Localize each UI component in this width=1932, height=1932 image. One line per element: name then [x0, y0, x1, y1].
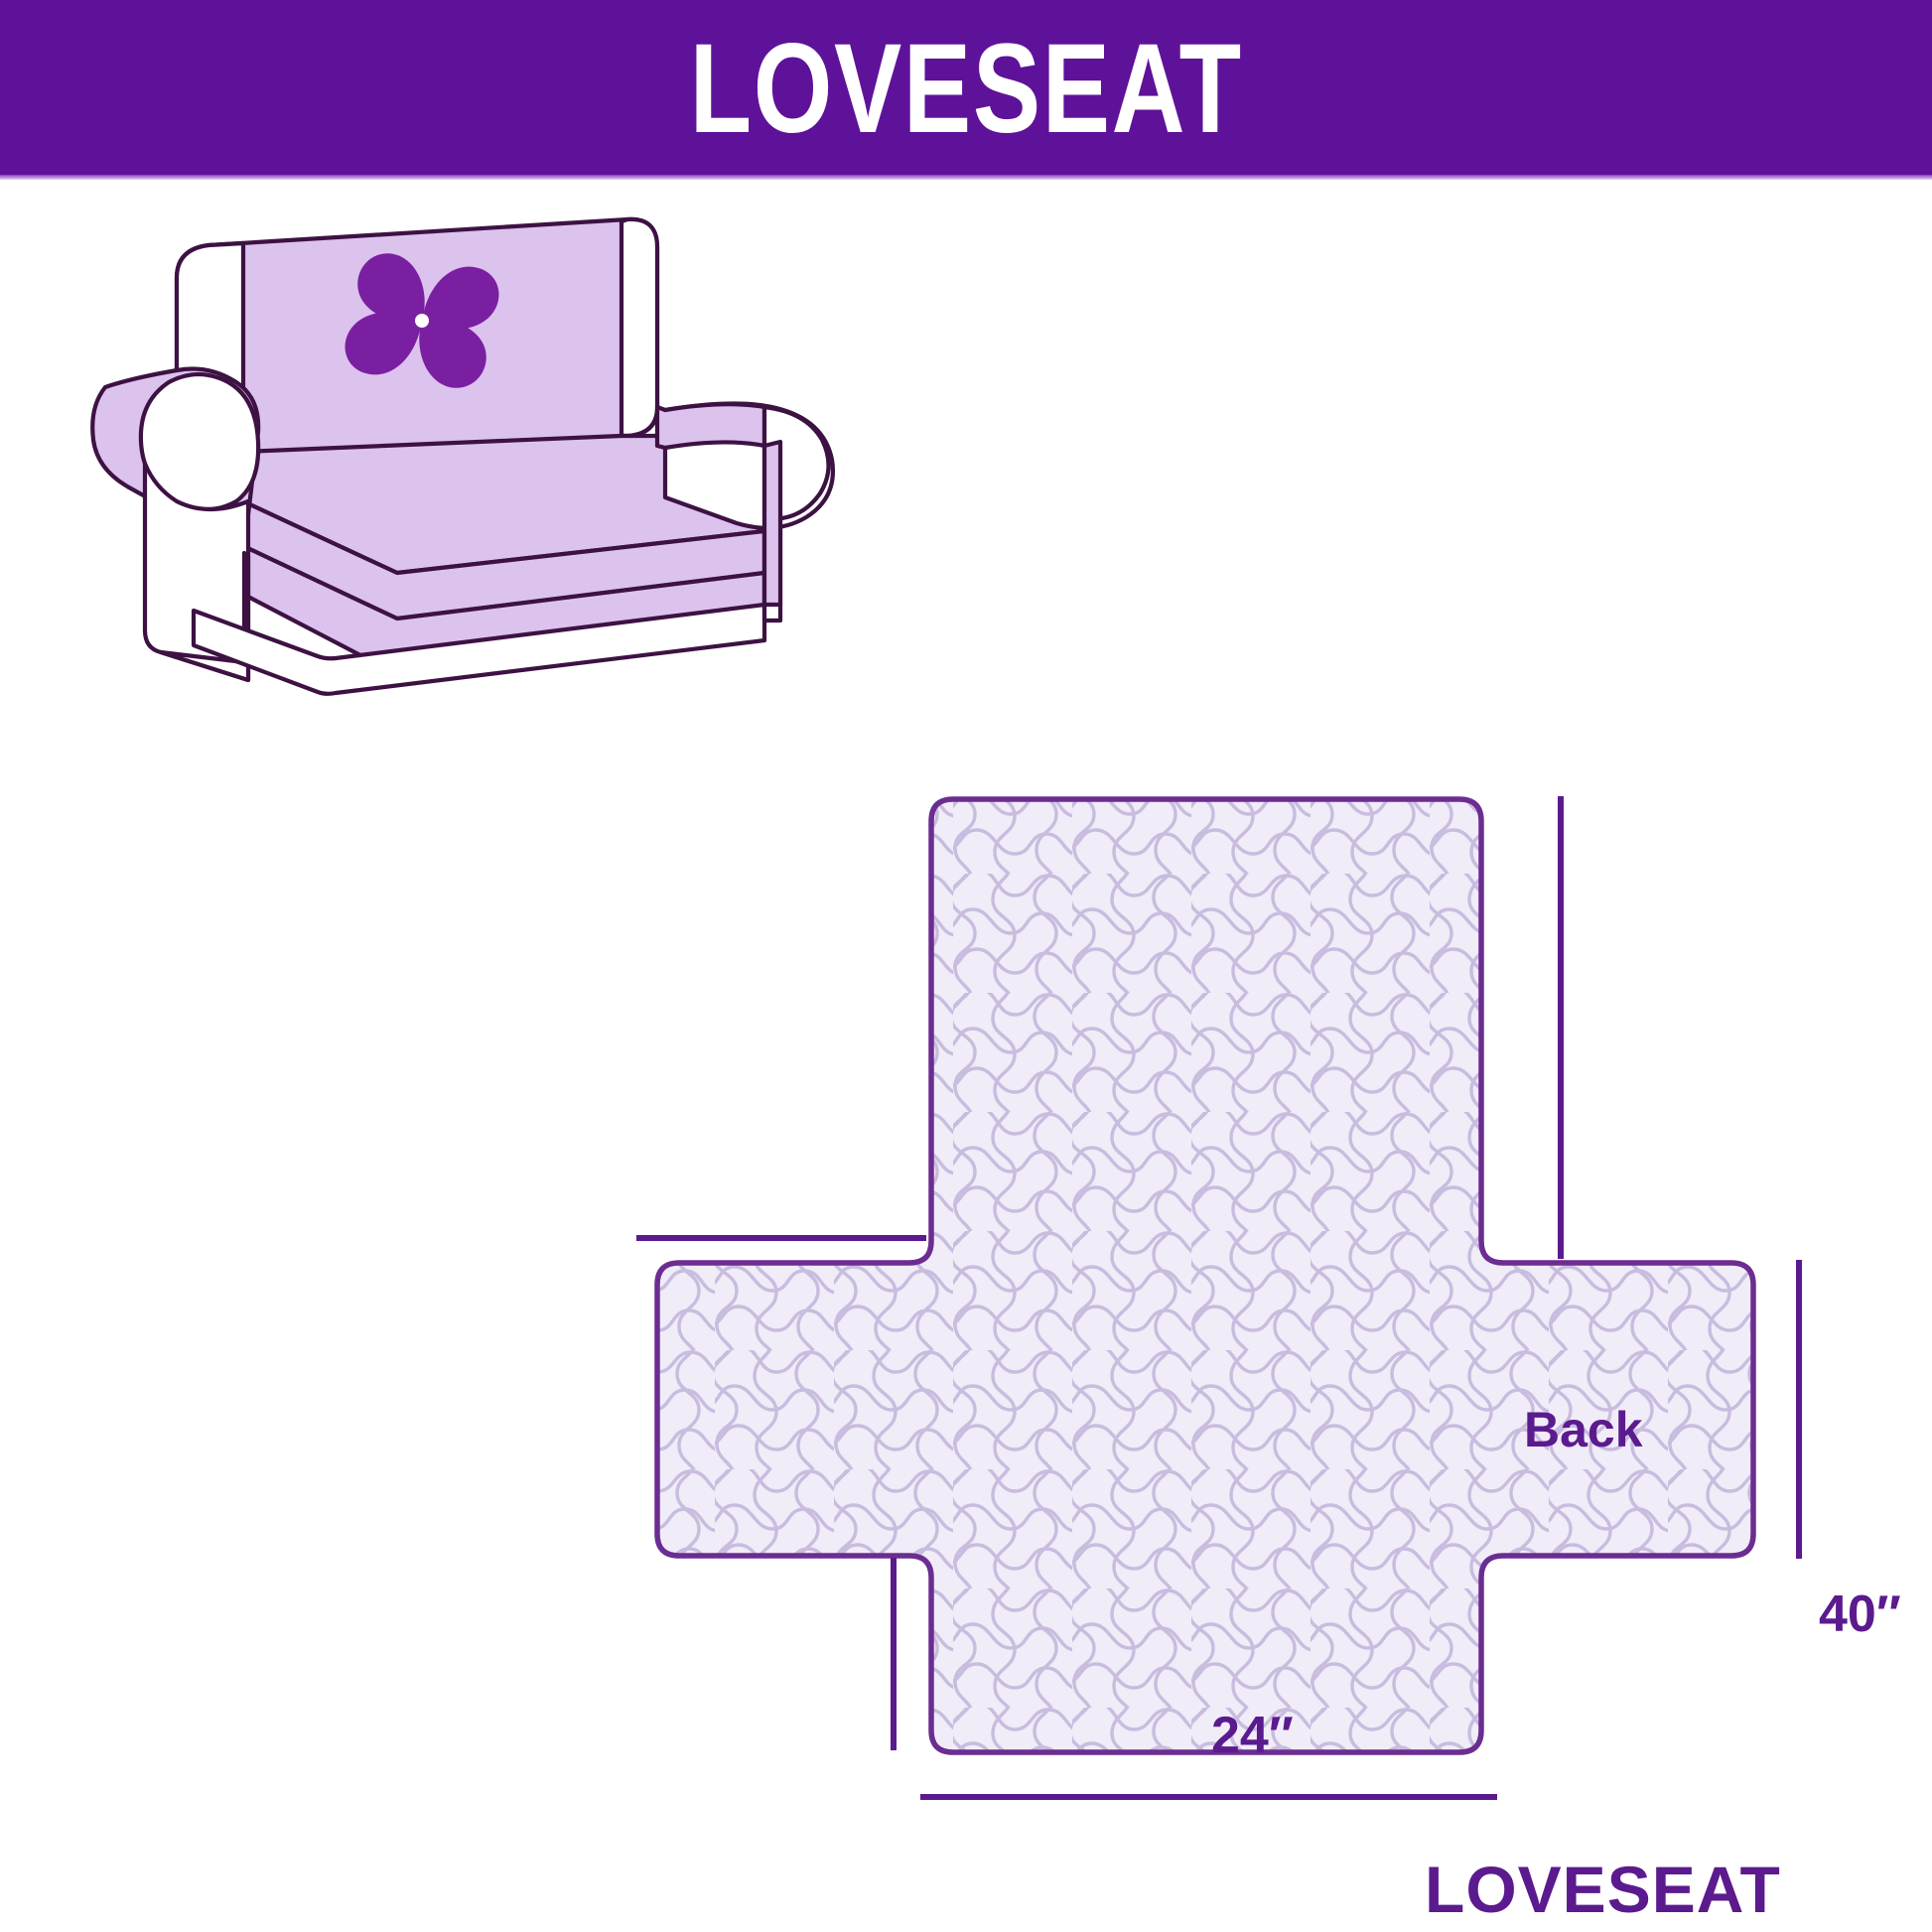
panel-label-back: Back — [1524, 1405, 1643, 1454]
diagram-page: LOVESEAT — [0, 0, 1932, 1932]
loveseat-illustration — [69, 204, 943, 700]
loveseat-line-drawing — [69, 204, 943, 700]
dimension-label-back-height: 40″ — [1819, 1588, 1901, 1640]
banner-bottom-edge — [0, 175, 1932, 180]
header-banner: LOVESEAT — [0, 0, 1932, 179]
page-title: LOVESEAT — [689, 26, 1242, 153]
dimension-label-armrest-width: 24″ — [1211, 1710, 1294, 1761]
panel-label-center: LOVESEAT — [1425, 1857, 1781, 1922]
sofa-right-side-strip — [764, 442, 780, 605]
sofa-right-arm-top — [657, 404, 764, 448]
slipcover-pattern-diagram: Back LOVESEAT Armrest Armrest Front 40″ … — [596, 755, 1932, 1932]
cross-pattern-outline — [657, 799, 1753, 1752]
sofa-back-right-face — [621, 219, 657, 436]
